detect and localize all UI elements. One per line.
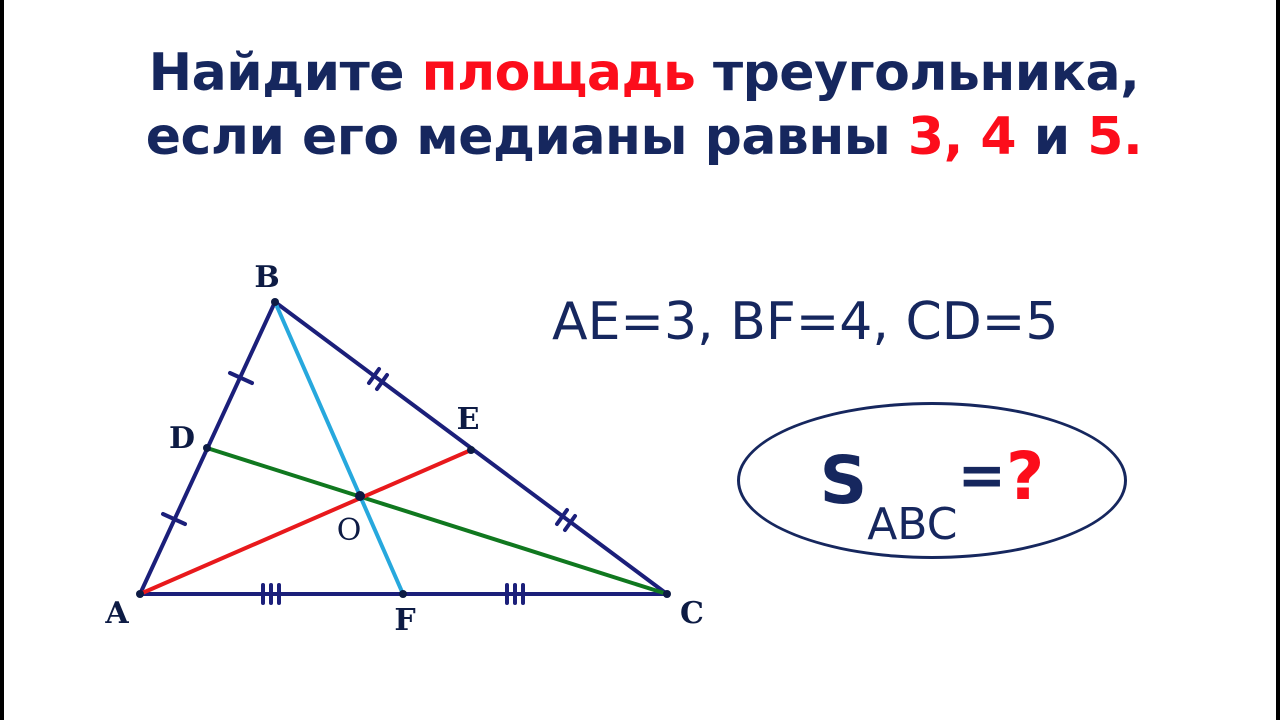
point-A-dot (136, 590, 144, 598)
label-D: D (169, 421, 195, 456)
point-F-dot (399, 590, 407, 598)
figure-labels: A B C D E F O (104, 260, 704, 638)
slide-canvas: Найдите площадь треугольника, если его м… (0, 0, 1280, 720)
triangle-diagram: A B C D E F O (4, 0, 1280, 720)
figure-points (136, 298, 671, 598)
median-CD-line (207, 448, 667, 594)
point-C-dot (663, 590, 671, 598)
tick-marks (163, 369, 575, 603)
median-BF-line (275, 302, 403, 594)
label-F: F (394, 603, 415, 638)
label-E: E (457, 402, 480, 437)
answer-equals-sign: = (957, 446, 1006, 504)
label-A: A (104, 596, 129, 631)
point-O-dot (355, 491, 365, 501)
median-AE-line (140, 450, 471, 594)
triangle-sides (140, 302, 667, 594)
point-E-dot (467, 446, 475, 454)
point-B-dot (271, 298, 279, 306)
label-O: O (337, 513, 362, 548)
label-C: C (680, 596, 704, 631)
answer-symbol-S: S (820, 448, 868, 514)
answer-expression: SABC=? (737, 402, 1127, 559)
answer-question-mark: ? (1006, 444, 1044, 510)
medians (140, 302, 667, 594)
label-B: B (254, 260, 279, 295)
point-D-dot (203, 444, 211, 452)
answer-subscript-abc: ABC (867, 503, 957, 547)
